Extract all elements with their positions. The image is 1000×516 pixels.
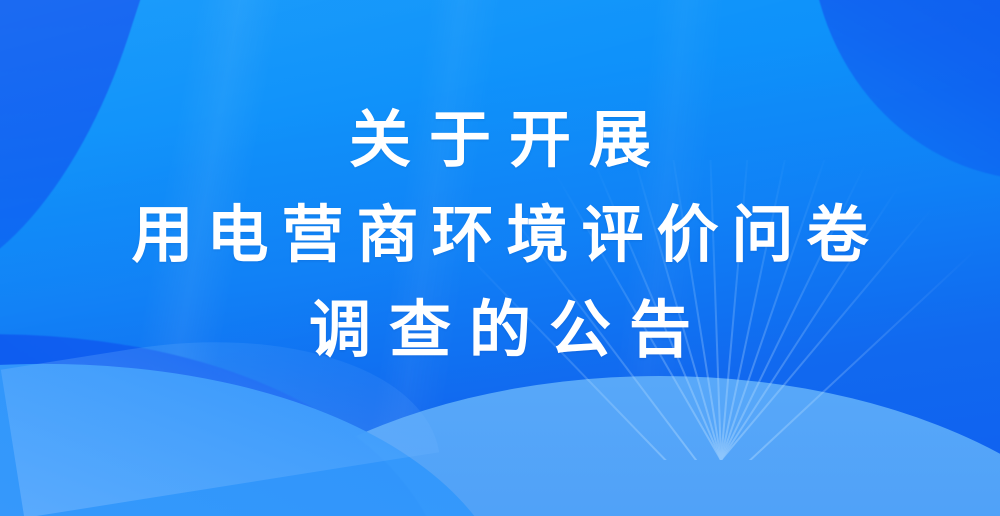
announcement-banner: 关于开展 用电营商环境评价问卷 调查的公告: [0, 0, 1000, 516]
banner-title-line-2: 用电营商环境评价问卷: [0, 187, 1000, 282]
banner-title-line-1: 关于开展: [0, 92, 1000, 187]
banner-title-line-3: 调查的公告: [0, 282, 1000, 377]
banner-title: 关于开展 用电营商环境评价问卷 调查的公告: [0, 92, 1000, 377]
